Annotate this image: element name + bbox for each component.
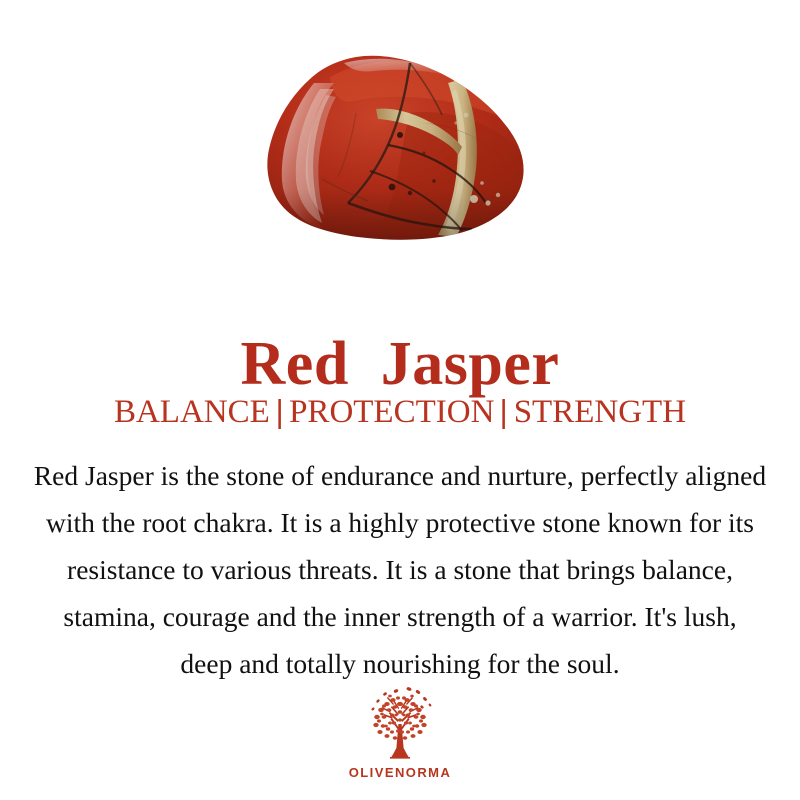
brand-wordmark: OLIVENORMA [349, 765, 452, 780]
tree-of-life-icon [354, 684, 446, 762]
keyword-protection: PROTECTION [289, 394, 494, 430]
red-jasper-stone-image [260, 53, 540, 243]
keyword-strength: STRENGTH [514, 394, 686, 430]
stone-image-container [0, 48, 800, 248]
keyword-balance: BALANCE [114, 394, 270, 430]
description-line: Red Jasper is the stone of endurance and… [14, 452, 786, 499]
description-line: deep and totally nourishing for the soul… [14, 640, 786, 687]
description-paragraph: Red Jasper is the stone of endurance and… [14, 452, 786, 687]
red-jasper-info-card: Red Jasper BALANCE|PROTECTION|STRENGTH R… [0, 0, 800, 800]
keyword-tagline: BALANCE|PROTECTION|STRENGTH [0, 392, 800, 432]
description-line: stamina, courage and the inner strength … [14, 593, 786, 640]
keyword-separator-1: | [269, 392, 290, 432]
description-line: resistance to various threats. It is a s… [14, 546, 786, 593]
description-line: with the root chakra. It is a highly pro… [14, 499, 786, 546]
page-title: Red Jasper [0, 330, 800, 398]
keyword-separator-2: | [493, 392, 514, 432]
brand-logo: OLIVENORMA [0, 684, 800, 780]
